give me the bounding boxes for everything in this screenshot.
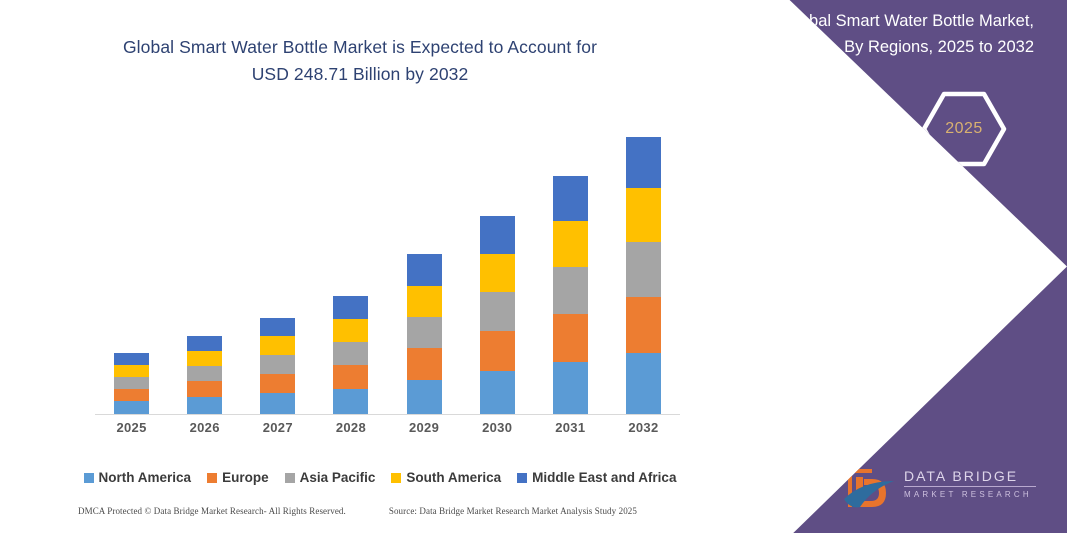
bar-group	[461, 100, 533, 414]
bar-segment[interactable]	[260, 355, 295, 374]
infographic-canvas: Global Smart Water Bottle Market is Expe…	[0, 0, 1067, 533]
logo-text-line-2: MARKET RESEARCH	[904, 489, 1036, 501]
x-axis-label: 2030	[461, 420, 533, 442]
legend-swatch-icon	[84, 473, 94, 483]
stacked-bar[interactable]	[187, 336, 222, 414]
data-bridge-logo: DATA BRIDGE MARKET RESEARCH	[842, 463, 1052, 515]
hexagon-2025: 2025	[920, 90, 1008, 168]
footer-source: Source: Data Bridge Market Research Mark…	[389, 506, 637, 516]
bar-segment[interactable]	[480, 292, 515, 331]
bar-segment[interactable]	[187, 351, 222, 366]
logo-text-line-1: DATA BRIDGE	[904, 467, 1036, 485]
bar-group	[169, 100, 241, 414]
bar-segment[interactable]	[626, 137, 661, 188]
x-axis-label: 2032	[607, 420, 679, 442]
stacked-bar[interactable]	[553, 176, 588, 414]
bar-segment[interactable]	[114, 377, 149, 389]
bar-segment[interactable]	[626, 297, 661, 353]
bar-segment[interactable]	[407, 317, 442, 348]
legend-item[interactable]: Asia Pacific	[285, 470, 376, 485]
legend-item[interactable]: South America	[391, 470, 501, 485]
hexagon-group: 2025 2032	[802, 90, 1067, 200]
bar-segment[interactable]	[187, 366, 222, 381]
legend-item[interactable]: Middle East and Africa	[517, 470, 676, 485]
bar-segment[interactable]	[114, 353, 149, 365]
logo-divider	[904, 486, 1036, 487]
bar-segment[interactable]	[407, 254, 442, 286]
bar-group	[388, 100, 460, 414]
stacked-bar-chart	[95, 100, 680, 415]
bar-segment[interactable]	[553, 314, 588, 362]
legend-label: Europe	[222, 470, 269, 485]
footer-copyright: DMCA Protected © Data Bridge Market Rese…	[78, 506, 346, 516]
bar-segment[interactable]	[333, 389, 368, 414]
legend-label: North America	[99, 470, 192, 485]
bar-segment[interactable]	[626, 242, 661, 297]
bar-segment[interactable]	[480, 216, 515, 254]
x-axis-label: 2029	[388, 420, 460, 442]
legend-label: South America	[406, 470, 501, 485]
x-axis-label: 2025	[96, 420, 168, 442]
bar-segment[interactable]	[187, 397, 222, 414]
stacked-bar[interactable]	[480, 216, 515, 414]
brand-name: DATA BRIDGE MARKET RESEARCH	[737, 232, 1067, 288]
chart-title-line-2: USD 248.71 Billion by 2032	[60, 61, 660, 88]
bar-segment[interactable]	[260, 318, 295, 336]
bar-segment[interactable]	[333, 365, 368, 389]
stacked-bar[interactable]	[626, 137, 661, 414]
panel-title-line-2: By Regions, 2025 to 2032	[720, 34, 1034, 60]
bar-segment[interactable]	[626, 353, 661, 414]
bar-group	[534, 100, 606, 414]
x-axis-label: 2028	[315, 420, 387, 442]
chart-legend: North AmericaEuropeAsia PacificSouth Ame…	[60, 470, 700, 485]
bar-segment[interactable]	[333, 342, 368, 365]
panel-title-line-1: Global Smart Water Bottle Market,	[720, 8, 1034, 34]
bar-group	[96, 100, 168, 414]
hexagon-2032-label: 2032	[865, 154, 903, 172]
legend-label: Middle East and Africa	[532, 470, 676, 485]
bar-segment[interactable]	[187, 336, 222, 351]
legend-swatch-icon	[207, 473, 217, 483]
bar-segment[interactable]	[260, 393, 295, 414]
bar-segment[interactable]	[114, 401, 149, 414]
legend-swatch-icon	[391, 473, 401, 483]
brand-line-2: RESEARCH	[737, 260, 1067, 288]
panel-title: Global Smart Water Bottle Market, By Reg…	[720, 8, 1050, 60]
legend-swatch-icon	[285, 473, 295, 483]
legend-item[interactable]: Europe	[207, 470, 269, 485]
footer: DMCA Protected © Data Bridge Market Rese…	[0, 506, 715, 516]
bar-segment[interactable]	[114, 365, 149, 377]
bar-segment[interactable]	[480, 254, 515, 292]
bar-segment[interactable]	[407, 348, 442, 380]
bar-segment[interactable]	[407, 380, 442, 414]
bar-group	[242, 100, 314, 414]
bar-group	[607, 100, 679, 414]
stacked-bar[interactable]	[407, 254, 442, 414]
bar-segment[interactable]	[260, 336, 295, 355]
stacked-bar[interactable]	[114, 353, 149, 414]
bar-segment[interactable]	[480, 331, 515, 371]
bar-series-container	[95, 100, 680, 414]
x-axis-line	[95, 414, 680, 415]
bar-segment[interactable]	[626, 188, 661, 242]
stacked-bar[interactable]	[333, 296, 368, 414]
bar-segment[interactable]	[407, 286, 442, 317]
bar-segment[interactable]	[553, 176, 588, 221]
legend-label: Asia Pacific	[300, 470, 376, 485]
x-axis-label: 2026	[169, 420, 241, 442]
bar-segment[interactable]	[114, 389, 149, 401]
bar-segment[interactable]	[333, 296, 368, 319]
branding-panel: Global Smart Water Bottle Market, By Reg…	[702, 0, 1067, 533]
bar-segment[interactable]	[187, 381, 222, 397]
chart-title: Global Smart Water Bottle Market is Expe…	[60, 34, 660, 88]
x-axis-label: 2027	[242, 420, 314, 442]
bar-segment[interactable]	[553, 221, 588, 267]
hexagon-2025-label: 2025	[945, 120, 983, 138]
bar-segment[interactable]	[333, 319, 368, 342]
chart-pane: Global Smart Water Bottle Market is Expe…	[0, 0, 720, 533]
legend-item[interactable]: North America	[84, 470, 192, 485]
hexagon-2032: 2032	[838, 122, 930, 204]
legend-swatch-icon	[517, 473, 527, 483]
x-axis-label: 2031	[534, 420, 606, 442]
stacked-bar[interactable]	[260, 318, 295, 414]
chart-title-line-1: Global Smart Water Bottle Market is Expe…	[60, 34, 660, 61]
bar-segment[interactable]	[260, 374, 295, 393]
bar-segment[interactable]	[480, 371, 515, 414]
x-axis-labels: 20252026202720282029203020312032	[95, 420, 680, 442]
brand-line-1: DATA BRIDGE MARKET	[737, 232, 1067, 260]
hexagon-icon	[838, 122, 930, 204]
logo-mark-icon	[842, 463, 900, 513]
logo-text: DATA BRIDGE MARKET RESEARCH	[904, 467, 1036, 501]
bar-segment[interactable]	[553, 267, 588, 314]
bar-segment[interactable]	[553, 362, 588, 414]
bar-group	[315, 100, 387, 414]
